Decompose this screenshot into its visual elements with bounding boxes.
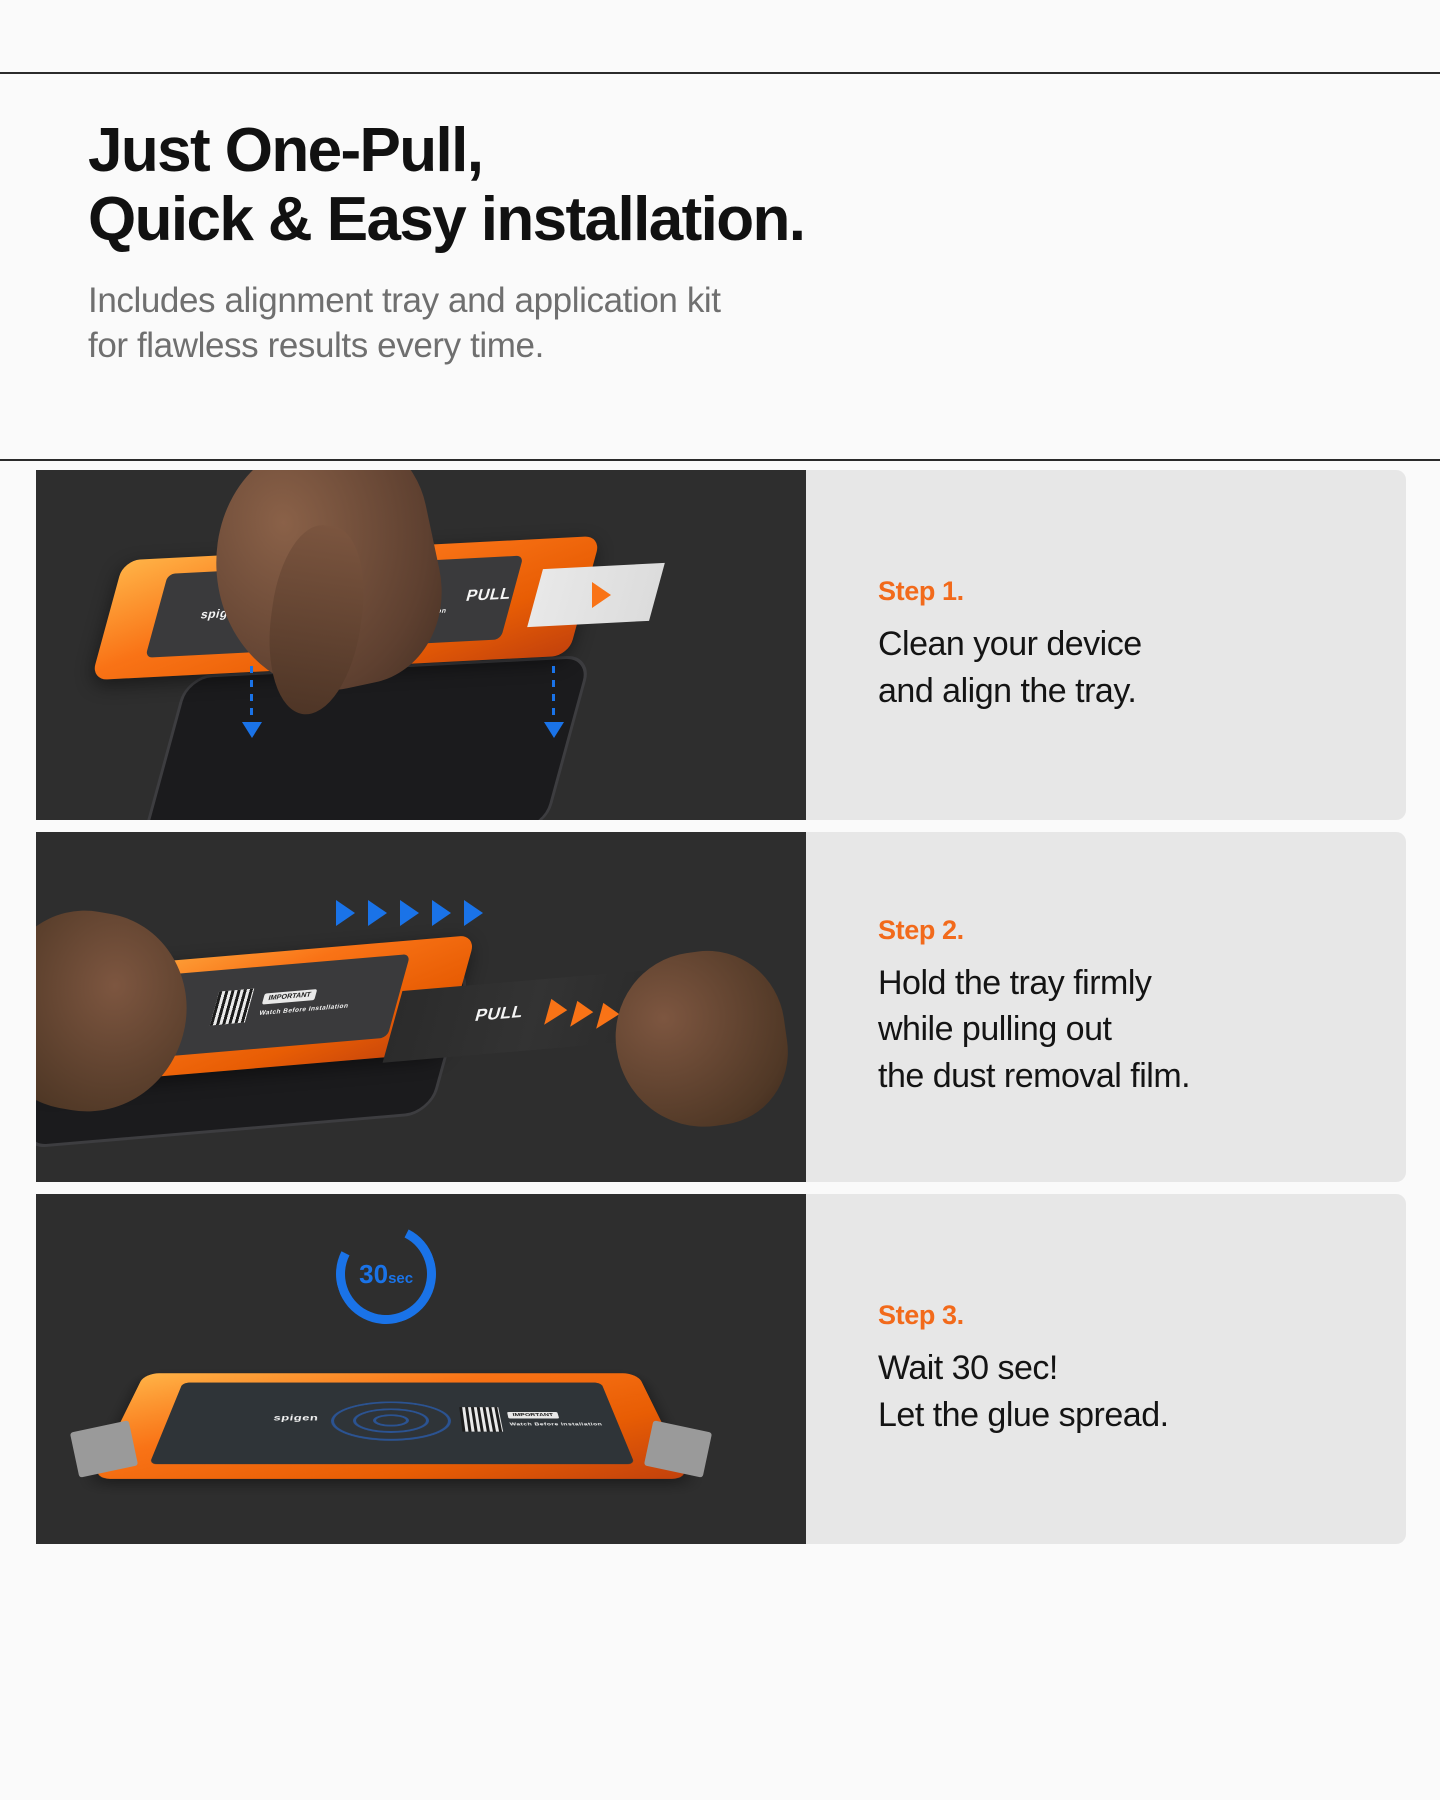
alignment-guide-left <box>250 666 253 726</box>
direction-chevron-4-icon <box>432 900 451 926</box>
important-badge: IMPORTANT <box>507 1412 559 1419</box>
alignment-tray: IMPORTANT Watch Before Installation spig… <box>92 1373 689 1479</box>
watch-before-install-label: Watch Before Installation <box>509 1422 603 1427</box>
step-row-3: 30sec IMPORTANT Watch Before Installatio… <box>0 1194 1440 1544</box>
step-3-photo: 30sec IMPORTANT Watch Before Installatio… <box>36 1194 806 1544</box>
infographic-page: Just One-Pull, Quick & Easy installation… <box>0 0 1440 1800</box>
direction-chevron-5-icon <box>464 900 483 926</box>
step-2-desc-line-1: Hold the tray firmly <box>878 960 1406 1006</box>
alignment-arrow-right-icon <box>544 722 564 738</box>
step-1-photo: IMPORTANT Watch Before Installation spig… <box>36 470 806 820</box>
timer-30sec-icon: 30sec <box>323 1211 449 1337</box>
subtitle-line-2: for flawless results every time. <box>88 324 1440 369</box>
brand-label: spigen <box>273 1413 319 1422</box>
timer-value: 30 <box>359 1259 388 1289</box>
step-2-description: Hold the tray firmly while pulling out t… <box>878 960 1406 1099</box>
page-subtitle: Includes alignment tray and application … <box>88 279 1440 369</box>
glue-ripple-3 <box>373 1414 409 1426</box>
step-3-desc-line-1: Wait 30 sec! <box>878 1345 1406 1391</box>
step-1-text-pane: Step 1. Clean your device and align the … <box>806 470 1406 820</box>
pull-label: PULL <box>464 586 513 606</box>
timer-label: 30sec <box>359 1259 413 1290</box>
step-2-desc-line-2: while pulling out <box>878 1006 1406 1052</box>
headline-line-2: Quick & Easy installation. <box>88 185 1440 254</box>
qr-code <box>459 1407 503 1431</box>
step-2-label: Step 2. <box>878 915 1406 946</box>
alignment-guide-right <box>552 666 555 726</box>
step-3-desc-line-2: Let the glue spread. <box>878 1392 1406 1438</box>
step-3-description: Wait 30 sec! Let the glue spread. <box>878 1345 1406 1437</box>
bottom-divider-rule <box>0 459 1440 461</box>
step-1-desc-line-2: and align the tray. <box>878 668 1406 714</box>
page-headline: Just One-Pull, Quick & Easy installation… <box>88 116 1440 255</box>
step-3-label: Step 3. <box>878 1300 1406 1331</box>
step-1-desc-line-1: Clean your device <box>878 621 1406 667</box>
headline-line-1: Just One-Pull, <box>88 116 1440 185</box>
direction-chevron-1-icon <box>336 900 355 926</box>
subtitle-line-1: Includes alignment tray and application … <box>88 279 1440 324</box>
alignment-arrow-left-icon <box>242 722 262 738</box>
step-row-2: IMPORTANT Watch Before Installation spig… <box>0 832 1440 1182</box>
step-2-photo: IMPORTANT Watch Before Installation spig… <box>36 832 806 1182</box>
step-row-1: IMPORTANT Watch Before Installation spig… <box>0 470 1440 820</box>
timer-unit: sec <box>388 1270 413 1287</box>
step-2-text-pane: Step 2. Hold the tray firmly while pulli… <box>806 832 1406 1182</box>
step-1-description: Clean your device and align the tray. <box>878 621 1406 713</box>
step-2-desc-line-3: the dust removal film. <box>878 1053 1406 1099</box>
step-1-label: Step 1. <box>878 576 1406 607</box>
pull-chevron-icon <box>592 582 611 608</box>
header-section: Just One-Pull, Quick & Easy installation… <box>0 74 1440 459</box>
step-3-text-pane: Step 3. Wait 30 sec! Let the glue spread… <box>806 1194 1406 1544</box>
steps-section: IMPORTANT Watch Before Installation spig… <box>0 470 1440 1556</box>
direction-chevron-3-icon <box>400 900 419 926</box>
direction-chevron-2-icon <box>368 900 387 926</box>
